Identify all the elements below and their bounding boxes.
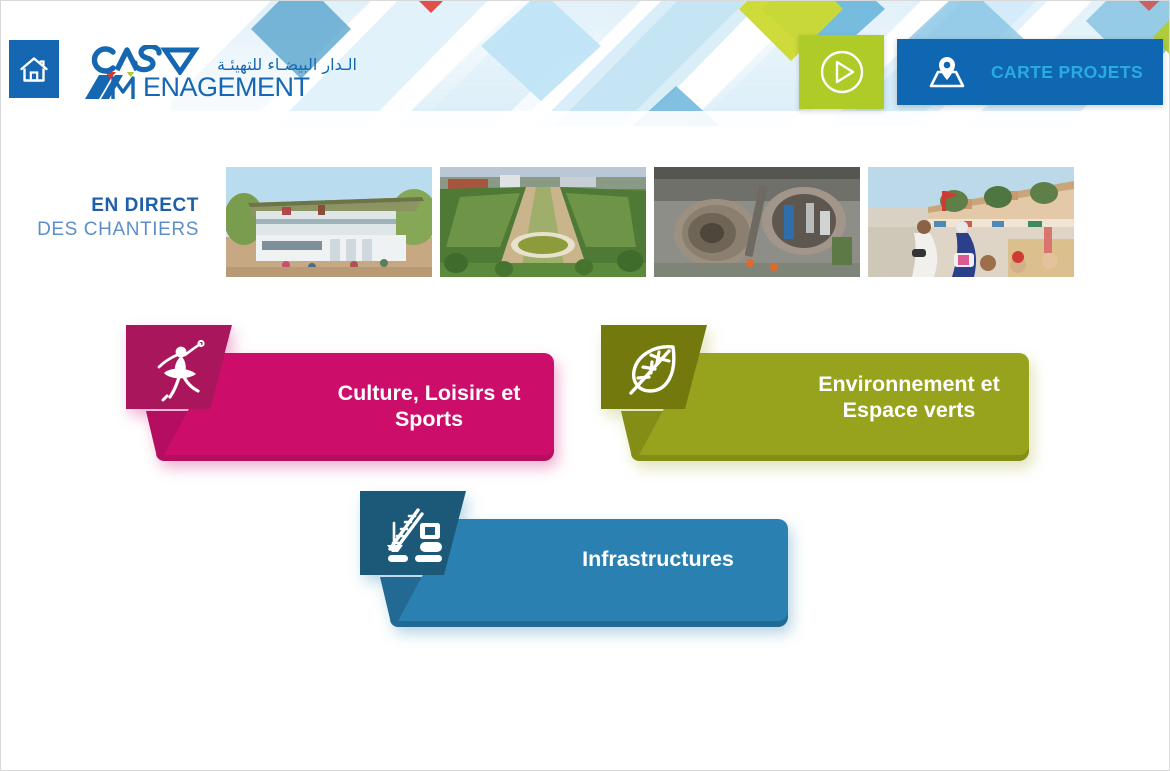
carte-projets-button[interactable]: CARTE PROJETS	[897, 39, 1163, 105]
logo-casa-mark	[83, 45, 211, 75]
live-title-line2: DES CHANTIERS	[37, 218, 199, 242]
logo-menagement-text: ENAGEMENT	[143, 74, 310, 101]
carte-projets-label: CARTE PROJETS	[991, 62, 1143, 83]
thumb-park[interactable]	[440, 167, 646, 277]
logo-m-mark	[83, 72, 141, 102]
page-root: الـدار البيضـاء للتهيئـة ENAGEMENT	[0, 0, 1170, 771]
category-card-infrastructures[interactable]: Infrastructures	[358, 489, 808, 634]
brand-logo[interactable]: الـدار البيضـاء للتهيئـة ENAGEMENT	[83, 45, 357, 102]
live-title-line1: EN DIRECT	[37, 194, 199, 218]
play-circle-icon	[817, 47, 867, 97]
live-thumbnail-strip	[226, 167, 1074, 277]
map-pin-icon	[925, 52, 969, 92]
thumb-tunnel-boring[interactable]	[654, 167, 860, 277]
logo-bottom-row: ENAGEMENT	[83, 72, 357, 102]
home-icon	[19, 55, 49, 83]
category-card-culture[interactable]: Culture, Loisirs et Sports	[124, 323, 574, 468]
home-button[interactable]	[9, 40, 59, 98]
category-card-environnement[interactable]: Environnement et Espace verts	[599, 323, 1049, 468]
site-header: الـدار البيضـاء للتهيئـة ENAGEMENT	[1, 1, 1170, 126]
live-section-title: EN DIRECT DES CHANTIERS	[37, 194, 199, 243]
logo-top-row: الـدار البيضـاء للتهيئـة	[83, 45, 357, 75]
thumb-esplanade[interactable]	[868, 167, 1074, 277]
thumb-pavilion[interactable]	[226, 167, 432, 277]
video-play-button[interactable]	[799, 35, 884, 109]
